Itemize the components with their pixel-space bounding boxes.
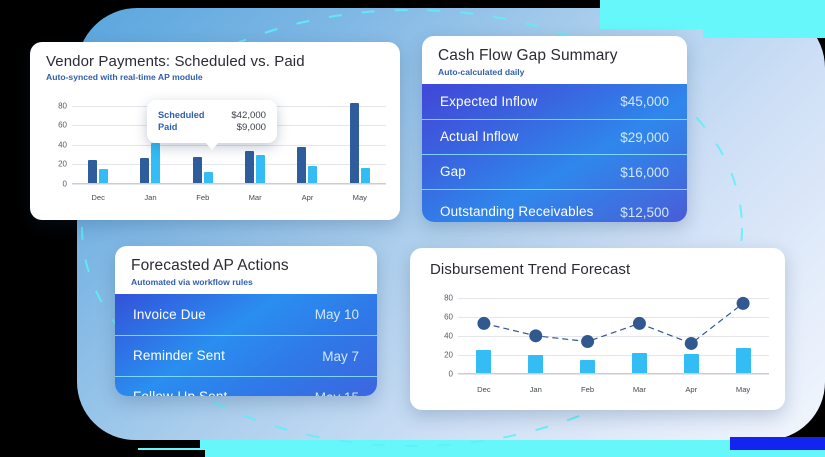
disbursement-card-title: Disbursement Trend Forecast	[430, 261, 769, 278]
bar-scheduled[interactable]	[350, 103, 359, 183]
ap-action-rows: Invoice DueMay 10Reminder SentMay 7Follo…	[115, 294, 377, 396]
forecasted-ap-actions-card: Forecasted AP Actions Automated via work…	[115, 246, 377, 396]
gridline	[72, 184, 386, 185]
disbursement-trend-card: Disbursement Trend Forecast 020406080 De…	[410, 248, 785, 410]
background-bottom-left-mask	[0, 450, 205, 457]
x-axis-label: Dec	[458, 385, 510, 394]
list-item[interactable]: Expected Inflow$45,000	[422, 84, 687, 119]
x-axis-label: Mar	[229, 193, 281, 202]
list-item[interactable]: Outstanding Receivables$12,500	[422, 189, 687, 222]
bar-paid[interactable]	[99, 169, 108, 183]
trend-data-point[interactable]	[529, 329, 542, 342]
list-item-label: Expected Inflow	[440, 94, 538, 110]
trend-data-point[interactable]	[737, 297, 750, 310]
bar-paid[interactable]	[256, 155, 265, 183]
cash-card-subtitle: Auto-calculated daily	[438, 67, 671, 77]
y-axis-tick: 40	[444, 331, 453, 340]
background-blue-bottom-right	[730, 437, 825, 450]
vendor-card-header: Vendor Payments: Scheduled vs. Paid Auto…	[30, 42, 400, 89]
bar-group[interactable]	[72, 98, 124, 183]
x-axis-label: Jan	[124, 193, 176, 202]
x-axis-label: May	[334, 193, 386, 202]
list-item-label: Outstanding Receivables	[440, 204, 594, 220]
bar-paid[interactable]	[361, 168, 370, 183]
background-cyan-top-right-2	[703, 0, 825, 38]
cash-card-title: Cash Flow Gap Summary	[438, 47, 671, 65]
trend-point-layer	[458, 290, 769, 374]
bar-group[interactable]	[334, 98, 386, 183]
vendor-chart-x-axis: DecJanFebMarAprMay	[72, 193, 386, 202]
cash-flow-rows: Expected Inflow$45,000Actual Inflow$29,0…	[422, 84, 687, 222]
list-item-label: Gap	[440, 164, 466, 180]
y-axis-tick: 0	[449, 370, 453, 379]
y-axis-tick: 80	[444, 293, 453, 302]
y-axis-tick: 0	[63, 180, 67, 189]
tooltip-row-paid: Paid $9,000	[158, 122, 266, 133]
bar-paid[interactable]	[308, 166, 317, 183]
list-item-value: $16,000	[620, 165, 669, 180]
list-item[interactable]: Actual Inflow$29,000	[422, 119, 687, 154]
bar-paid[interactable]	[204, 172, 213, 183]
x-axis-label: Apr	[281, 193, 333, 202]
disbursement-chart-plot-area: 020406080	[458, 290, 769, 374]
tooltip-key-scheduled: Scheduled	[158, 110, 204, 120]
list-item-value: May 7	[322, 349, 359, 364]
vendor-payments-card: Vendor Payments: Scheduled vs. Paid Auto…	[30, 42, 400, 220]
list-item-value: $45,000	[620, 94, 669, 109]
vendor-chart-tooltip: Scheduled $42,000 Paid $9,000	[147, 100, 277, 143]
y-axis-tick: 60	[444, 312, 453, 321]
x-axis-label: Dec	[72, 193, 124, 202]
list-item[interactable]: Gap$16,000	[422, 154, 687, 189]
list-item-label: Reminder Sent	[133, 348, 225, 364]
screenshot-stage: Vendor Payments: Scheduled vs. Paid Auto…	[0, 0, 825, 457]
ap-card-subtitle: Automated via workflow rules	[131, 277, 361, 287]
vendor-card-title: Vendor Payments: Scheduled vs. Paid	[46, 53, 384, 70]
cash-flow-gap-card: Cash Flow Gap Summary Auto-calculated da…	[422, 36, 687, 222]
disbursement-chart: 020406080 DecJanFebMarAprMay	[424, 284, 775, 396]
x-axis-label: Mar	[613, 385, 665, 394]
list-item-value: $12,500	[620, 205, 669, 220]
x-axis-label: Feb	[177, 193, 229, 202]
vendor-payments-chart: 020406080 DecJanFebMarAprMay Scheduled $…	[40, 92, 390, 204]
trend-data-point[interactable]	[633, 317, 646, 330]
list-item-value: May 10	[315, 307, 359, 322]
x-axis-label: May	[717, 385, 769, 394]
bar-scheduled[interactable]	[193, 157, 202, 183]
bar-scheduled[interactable]	[297, 147, 306, 183]
x-axis-label: Feb	[562, 385, 614, 394]
disbursement-chart-x-axis: DecJanFebMarAprMay	[458, 385, 769, 394]
vendor-card-subtitle: Auto-synced with real-time AP module	[46, 72, 384, 82]
list-item[interactable]: Reminder SentMay 7	[115, 335, 377, 376]
y-axis-tick: 20	[444, 350, 453, 359]
bar-scheduled[interactable]	[88, 160, 97, 183]
list-item-label: Follow-Up Sent	[133, 389, 227, 396]
list-item[interactable]: Follow-Up SentMay 15	[115, 376, 377, 396]
trend-data-point[interactable]	[581, 335, 594, 348]
trend-data-point[interactable]	[685, 337, 698, 350]
cash-card-header: Cash Flow Gap Summary Auto-calculated da…	[422, 36, 687, 84]
list-item-value: $29,000	[620, 130, 669, 145]
x-axis-line	[72, 183, 386, 184]
y-axis-tick: 80	[58, 101, 67, 110]
x-axis-label: Apr	[665, 385, 717, 394]
ap-card-title: Forecasted AP Actions	[131, 257, 361, 275]
background-cyan-bottom-strip-2	[138, 448, 825, 457]
disbursement-card-header: Disbursement Trend Forecast	[410, 248, 785, 282]
x-axis-label: Jan	[510, 385, 562, 394]
bar-scheduled[interactable]	[245, 151, 254, 183]
list-item-label: Actual Inflow	[440, 129, 519, 145]
y-axis-tick: 40	[58, 140, 67, 149]
tooltip-value-paid: $9,000	[237, 122, 266, 133]
y-axis-tick: 20	[58, 160, 67, 169]
tooltip-row-scheduled: Scheduled $42,000	[158, 110, 266, 121]
bar-scheduled[interactable]	[140, 158, 149, 183]
list-item[interactable]: Invoice DueMay 10	[115, 294, 377, 335]
gridline	[458, 374, 769, 375]
tooltip-pointer	[205, 142, 219, 150]
tooltip-key-paid: Paid	[158, 122, 177, 132]
y-axis-tick: 60	[58, 121, 67, 130]
trend-data-point[interactable]	[477, 317, 490, 330]
ap-card-header: Forecasted AP Actions Automated via work…	[115, 246, 377, 294]
list-item-label: Invoice Due	[133, 307, 206, 323]
bar-paid[interactable]	[151, 143, 160, 183]
list-item-value: May 15	[315, 390, 359, 397]
tooltip-value-scheduled: $42,000	[231, 110, 266, 121]
bar-group[interactable]	[281, 98, 333, 183]
